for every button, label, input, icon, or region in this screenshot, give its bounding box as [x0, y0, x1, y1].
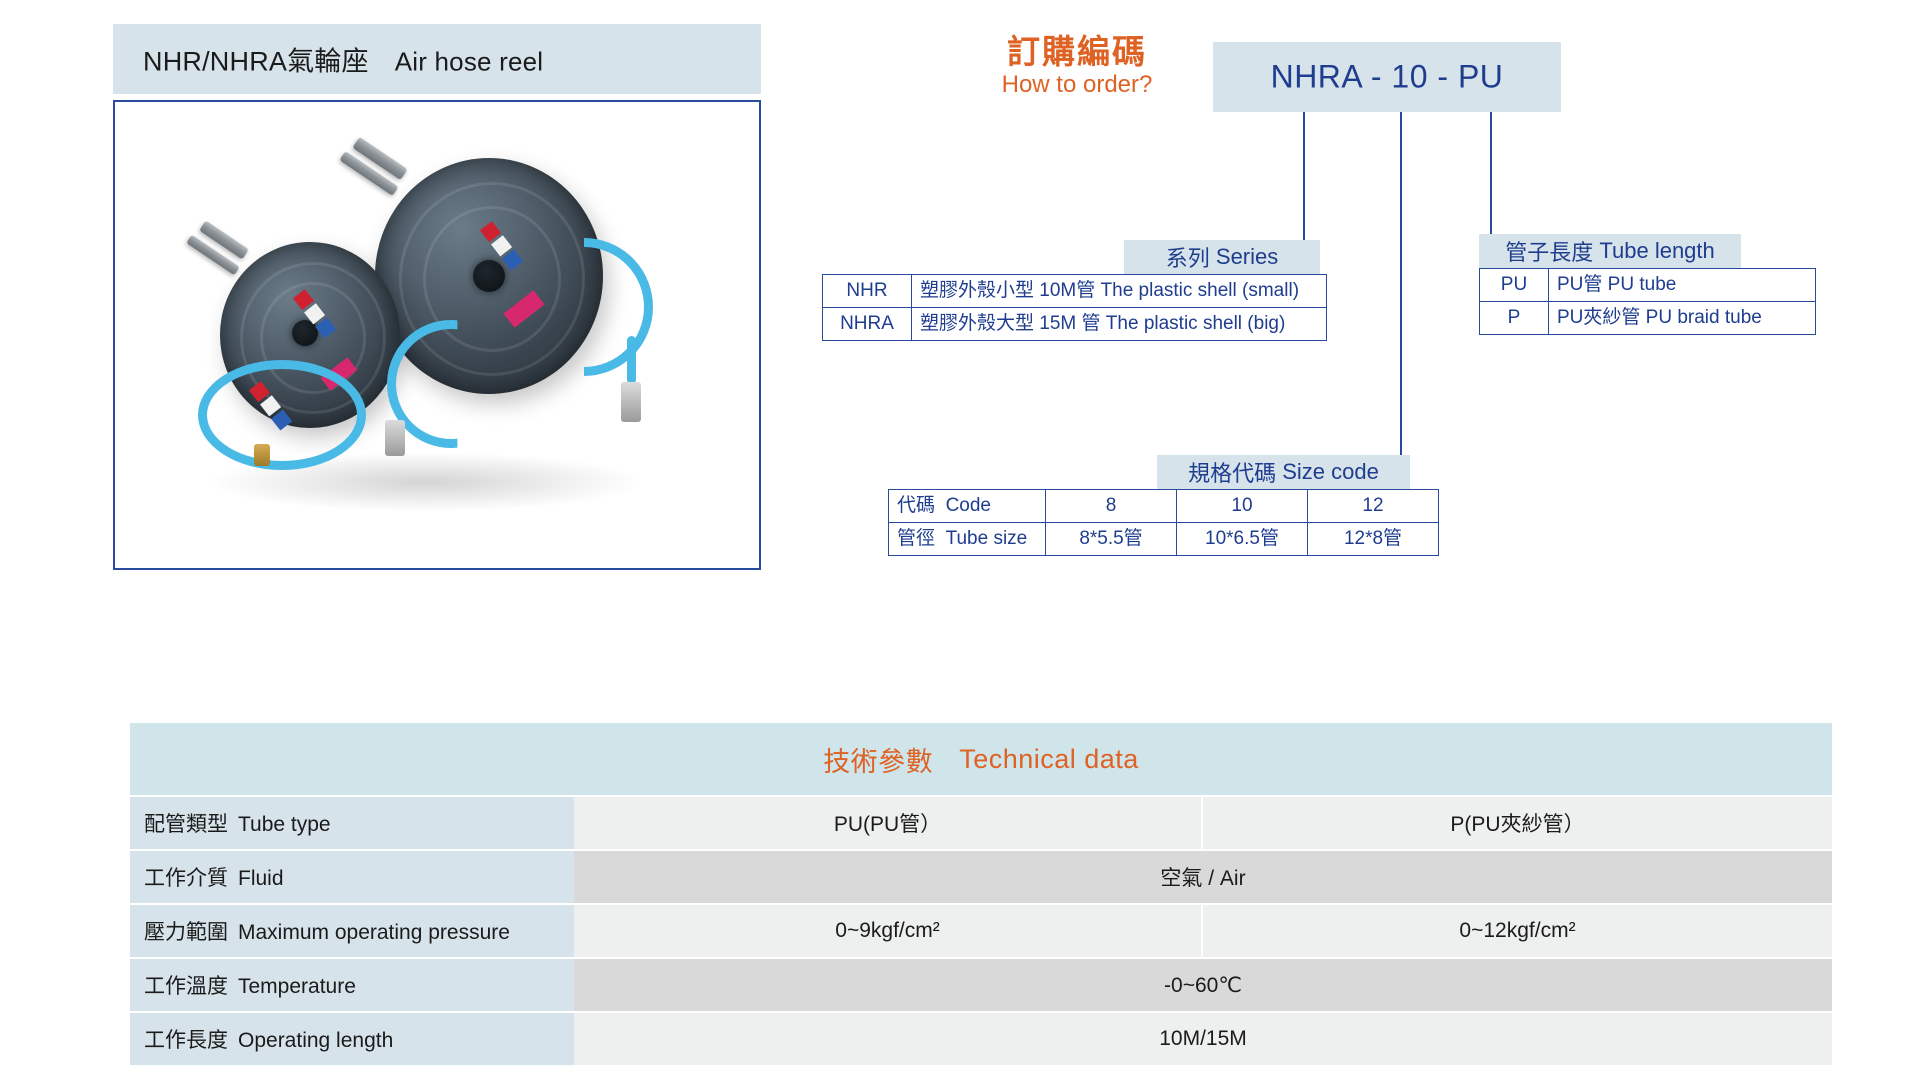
technical-data-header-en: Technical data [959, 744, 1139, 775]
table-row: 工作長度Operating length 10M/15M [130, 1013, 1832, 1065]
connector-line-tube-length [1490, 112, 1492, 236]
product-title-cn: NHR/NHRA氣輪座 [143, 47, 369, 77]
tube-length-code-1: P [1480, 301, 1549, 334]
tech-row-label-4-en: Operating length [238, 1029, 393, 1052]
tube-length-table: PU PU管 PU tube P PU夾紗管 PU braid tube [1479, 268, 1816, 335]
table-row: NHR 塑膠外殼小型 10M管 The plastic shell (small… [823, 275, 1327, 308]
tube-length-desc-1: PU夾紗管 PU braid tube [1549, 301, 1816, 334]
tech-row-label-1-cn: 工作介質 [144, 867, 228, 890]
tube-length-header-en: Tube length [1599, 238, 1714, 264]
tech-row-value-0-1: P(PU夾紗管） [1203, 797, 1832, 849]
how-to-order-title: 訂購編碼 How to order? [972, 34, 1182, 100]
tech-row-label-0-cn: 配管類型 [144, 813, 228, 836]
table-row: NHRA 塑膠外殼大型 15M 管 The plastic shell (big… [823, 307, 1327, 340]
size-code-label-0: 代碼 Code [889, 490, 1046, 523]
series-header-cn: 系列 [1166, 241, 1210, 273]
series-desc-0: 塑膠外殼小型 10M管 The plastic shell (small) [912, 275, 1327, 308]
tech-row-label-4: 工作長度Operating length [130, 1013, 574, 1065]
nozzle-large [621, 382, 641, 422]
order-code-example: NHRA - 10 - PU [1213, 59, 1561, 96]
tech-row-label-2-en: Maximum operating pressure [238, 921, 510, 944]
size-code-header-cn: 規格代碼 [1188, 456, 1276, 488]
size-code-value-0-1: 10 [1177, 490, 1308, 523]
tech-row-label-3-cn: 工作溫度 [144, 975, 228, 998]
size-code-value-0-2: 12 [1308, 490, 1439, 523]
order-code-example-box: NHRA - 10 - PU [1213, 42, 1561, 112]
table-row: 代碼 Code 8 10 12 [889, 490, 1439, 523]
hose-small-fitting [254, 444, 270, 466]
tube-length-header-cn: 管子長度 [1505, 235, 1593, 267]
size-code-label-1-en: Tube size [946, 528, 1028, 549]
reel-large-hub [473, 260, 505, 292]
tech-row-label-3-en: Temperature [238, 975, 356, 998]
tube-length-desc-0: PU管 PU tube [1549, 269, 1816, 302]
size-code-header-en: Size code [1282, 459, 1379, 485]
table-row: 壓力範圍Maximum operating pressure 0~9kgf/cm… [130, 905, 1832, 957]
tech-row-value-4-0: 10M/15M [574, 1013, 1832, 1065]
size-code-label-0-en: Code [946, 495, 991, 516]
tech-row-label-2: 壓力範圍Maximum operating pressure [130, 905, 574, 957]
tech-row-label-0-en: Tube type [238, 813, 331, 836]
table-row: P PU夾紗管 PU braid tube [1480, 301, 1816, 334]
connector-line-size-code [1400, 112, 1402, 457]
size-code-label-0-cn: 代碼 [897, 495, 935, 516]
series-code-1: NHRA [823, 307, 912, 340]
nozzle-middle [385, 420, 405, 456]
tech-row-label-3: 工作溫度Temperature [130, 959, 574, 1011]
size-code-value-1-1: 10*6.5管 [1177, 522, 1308, 555]
table-row: 管徑 Tube size 8*5.5管 10*6.5管 12*8管 [889, 522, 1439, 555]
tech-row-value-0-0: PU(PU管） [574, 797, 1203, 849]
series-table: NHR 塑膠外殼小型 10M管 The plastic shell (small… [822, 274, 1327, 341]
technical-data-table: 配管類型Tube type PU(PU管） P(PU夾紗管） 工作介質Fluid… [130, 795, 1832, 1067]
size-code-label-1: 管徑 Tube size [889, 522, 1046, 555]
tube-length-code-0: PU [1480, 269, 1549, 302]
connector-line-series [1303, 112, 1305, 243]
series-desc-1: 塑膠外殼大型 15M 管 The plastic shell (big) [912, 307, 1327, 340]
table-row: 配管類型Tube type PU(PU管） P(PU夾紗管） [130, 797, 1832, 849]
tech-row-label-2-cn: 壓力範圍 [144, 921, 228, 944]
hose-large-drop [627, 336, 636, 384]
size-code-header: 規格代碼 Size code [1157, 455, 1410, 489]
size-code-value-0-0: 8 [1046, 490, 1177, 523]
product-title-en: Air hose reel [395, 47, 544, 77]
tech-row-label-4-cn: 工作長度 [144, 1029, 228, 1052]
product-image [113, 100, 761, 570]
hose-small-loop [198, 360, 366, 470]
size-code-value-1-2: 12*8管 [1308, 522, 1439, 555]
product-title-bar: NHR/NHRA氣輪座Air hose reel [113, 24, 761, 94]
tech-row-label-0: 配管類型Tube type [130, 797, 574, 849]
table-row: PU PU管 PU tube [1480, 269, 1816, 302]
how-to-order-title-cn: 訂購編碼 [972, 34, 1182, 71]
tech-row-value-1-0: 空氣 / Air [574, 851, 1832, 903]
technical-data-header: 技術參數 Technical data [130, 723, 1832, 795]
technical-data-section: 技術參數 Technical data 配管類型Tube type PU(PU管… [130, 723, 1832, 1067]
tech-row-label-1: 工作介質Fluid [130, 851, 574, 903]
tech-row-value-2-1: 0~12kgf/cm² [1203, 905, 1832, 957]
technical-data-header-cn: 技術參數 [823, 740, 933, 779]
size-code-label-1-cn: 管徑 [897, 528, 935, 549]
series-header-en: Series [1216, 244, 1278, 270]
tech-row-label-1-en: Fluid [238, 867, 284, 890]
product-title: NHR/NHRA氣輪座Air hose reel [143, 40, 543, 79]
series-code-0: NHR [823, 275, 912, 308]
how-to-order-title-en: How to order? [972, 71, 1182, 100]
table-row: 工作介質Fluid 空氣 / Air [130, 851, 1832, 903]
tech-row-value-3-0: -0~60℃ [574, 959, 1832, 1011]
table-row: 工作溫度Temperature -0~60℃ [130, 959, 1832, 1011]
size-code-value-1-0: 8*5.5管 [1046, 522, 1177, 555]
tech-row-value-2-0: 0~9kgf/cm² [574, 905, 1203, 957]
product-panel: NHR/NHRA氣輪座Air hose reel [113, 24, 761, 570]
tube-length-header: 管子長度 Tube length [1479, 234, 1741, 268]
series-header: 系列 Series [1124, 240, 1320, 274]
size-code-table: 代碼 Code 8 10 12 管徑 Tube size 8*5.5管 10*6… [888, 489, 1439, 556]
